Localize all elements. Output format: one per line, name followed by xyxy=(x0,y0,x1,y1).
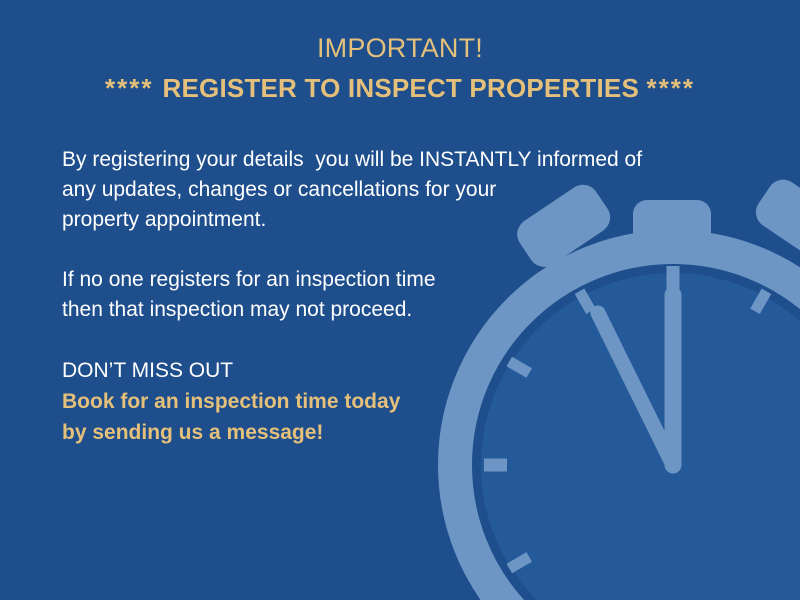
paragraph2-line1: If no one registers for an inspection ti… xyxy=(62,265,722,295)
paragraph1-line1: By registering your details you will be … xyxy=(62,145,722,175)
paragraph1-line3: property appointment. xyxy=(62,205,722,235)
paragraph-spacer-2 xyxy=(62,325,722,355)
body-block: By registering your details you will be … xyxy=(62,145,722,448)
paragraph-registering: By registering your details you will be … xyxy=(62,145,722,235)
paragraph2-line2: then that inspection may not proceed. xyxy=(62,295,722,325)
paragraph1-line2: any updates, changes or cancellations fo… xyxy=(62,175,722,205)
headline-block: IMPORTANT! ****REGISTER TO INSPECT PROPE… xyxy=(0,31,800,105)
call-to-action-block: DON’T MISS OUT Book for an inspection ti… xyxy=(62,355,722,448)
paragraph-no-registration: If no one registers for an inspection ti… xyxy=(62,265,722,325)
cta-line-book-inspection: Book for an inspection time today xyxy=(62,386,722,417)
asterisks-left: **** xyxy=(105,73,153,103)
headline-subtitle-text: REGISTER TO INSPECT PROPERTIES xyxy=(163,73,640,103)
paragraph-spacer-1 xyxy=(62,235,722,265)
asterisks-right: **** xyxy=(646,73,694,103)
promotional-slide: IMPORTANT! ****REGISTER TO INSPECT PROPE… xyxy=(0,0,800,600)
cta-line-dont-miss-out: DON’T MISS OUT xyxy=(62,355,722,386)
page-title: IMPORTANT! xyxy=(0,31,800,65)
slide-content: IMPORTANT! ****REGISTER TO INSPECT PROPE… xyxy=(0,0,800,600)
cta-line-send-message: by sending us a message! xyxy=(62,417,722,448)
headline-subtitle: ****REGISTER TO INSPECT PROPERTIES **** xyxy=(0,71,800,105)
